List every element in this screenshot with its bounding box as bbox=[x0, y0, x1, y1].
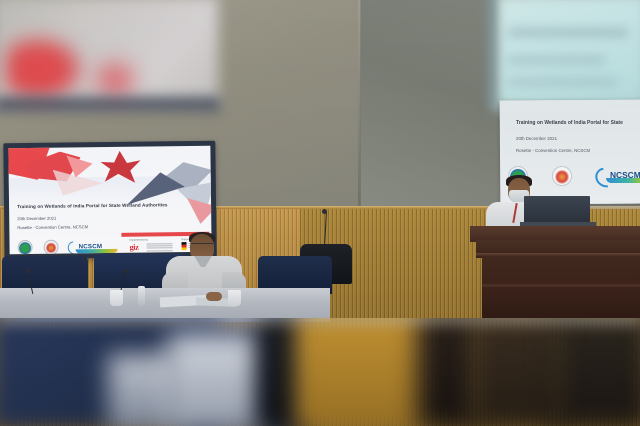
emblem-logo-2-icon bbox=[43, 240, 58, 255]
german-flag-icon bbox=[182, 242, 187, 250]
water-bottle bbox=[138, 286, 145, 306]
blurred-red-shape-1 bbox=[6, 34, 86, 104]
eyeglasses-icon bbox=[191, 243, 213, 248]
right-slide-date: 20th December 2021 bbox=[516, 136, 557, 141]
blurred-text-line-3 bbox=[508, 78, 616, 86]
blurred-text-line-2 bbox=[508, 56, 604, 64]
giz-logo-subtext bbox=[147, 243, 173, 252]
wall-seam bbox=[358, 0, 361, 215]
microphone-head-mid bbox=[124, 269, 129, 273]
ncscm-logo-icon: NCSCM bbox=[68, 241, 120, 253]
ncscm-swoosh-icon bbox=[76, 248, 118, 253]
blurred-screen-right-edge bbox=[487, 0, 497, 108]
microphone-head-left bbox=[26, 269, 31, 273]
cup-right bbox=[228, 290, 241, 306]
slide-title: Training on Wetlands of India Portal for… bbox=[17, 202, 207, 209]
podium-edge bbox=[482, 284, 640, 287]
cup-left bbox=[110, 290, 123, 306]
giz-caption: Implemented by bbox=[129, 239, 148, 242]
slide-date: 20th December 2021 bbox=[17, 216, 56, 221]
seated-official-hand bbox=[206, 292, 222, 301]
fg-soft-top-edge bbox=[0, 318, 640, 330]
right-slide-venue: Rosette - Convention Centre, NCSCM bbox=[516, 148, 590, 153]
slide-venue: Rosette - Convention Centre, NCSCM bbox=[17, 224, 88, 230]
podium-body bbox=[482, 256, 640, 318]
main-projection-screen: Training on Wetlands of India Portal for… bbox=[3, 141, 216, 260]
main-slide: Training on Wetlands of India Portal for… bbox=[8, 146, 211, 254]
laptop-screen bbox=[524, 196, 590, 224]
blurred-foreground bbox=[0, 318, 640, 426]
right-emblem-logo-2-icon bbox=[552, 166, 572, 186]
right-ncscm-swoosh-icon bbox=[606, 178, 640, 183]
fg-dark-shape-3 bbox=[552, 318, 640, 426]
conference-hall-photo: Training on Wetlands of India Portal for… bbox=[0, 0, 640, 426]
giz-logo-label: giz bbox=[130, 243, 139, 252]
right-slide-title: Training on Wetlands of India Portal for… bbox=[516, 120, 640, 126]
blurred-screen-left-frame bbox=[0, 96, 220, 112]
slide-logo-row: NCSCM Implemented by giz Supported by bbox=[13, 238, 211, 254]
blurred-screen-right bbox=[494, 0, 640, 108]
fg-gold-shape-1 bbox=[296, 318, 426, 426]
emblem-logo-1-icon bbox=[17, 240, 32, 254]
right-ncscm-logo-icon: NCSCM bbox=[594, 168, 640, 184]
blurred-text-line-1 bbox=[508, 28, 628, 37]
fg-light-shape-2 bbox=[168, 334, 264, 426]
